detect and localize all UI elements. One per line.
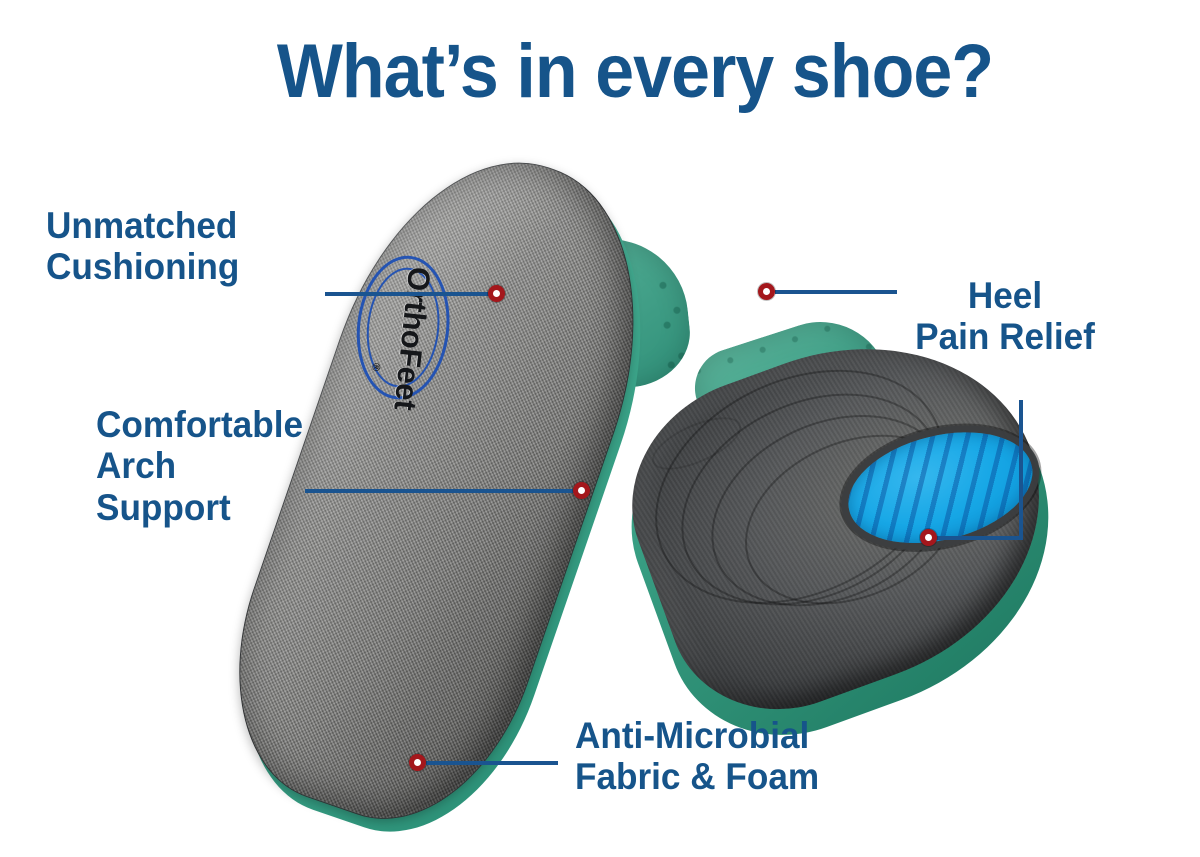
page-title: What’s in every shoe? (51, 28, 1200, 115)
marker-cushioning[interactable] (488, 285, 505, 302)
marker-arch[interactable] (573, 482, 590, 499)
marker-heel-top[interactable] (758, 283, 775, 300)
marker-anti[interactable] (409, 754, 426, 771)
marker-heel[interactable] (920, 529, 937, 546)
logo-registered-mark: ® (369, 362, 382, 371)
callout-label-heel: Heel Pain Relief (882, 275, 1129, 358)
callout-label-anti-microbial: Anti-Microbial Fabric & Foam (575, 715, 819, 798)
callout-label-cushioning: Unmatched Cushioning (46, 205, 239, 288)
insole-feature-infographic: OrthoFeet ® What’s in every shoe? Unmatc… (0, 0, 1200, 857)
callout-label-arch: Comfortable Arch Support (96, 404, 303, 528)
